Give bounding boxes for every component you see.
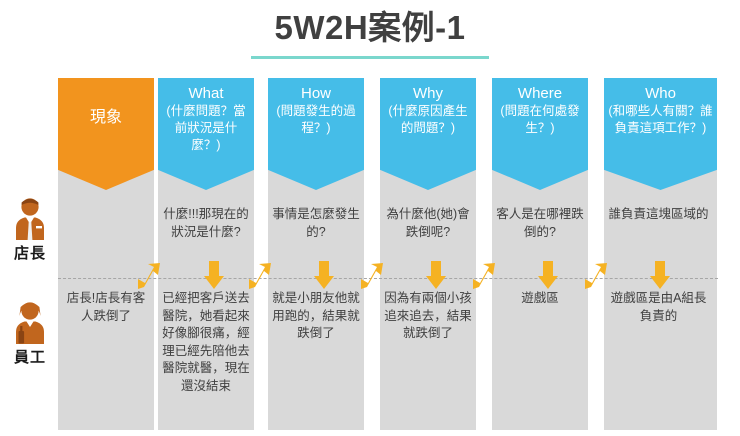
column-header-zh: (問題發生的過程？) (271, 103, 361, 137)
cell-staff-where: 遊戲區 (495, 290, 585, 308)
persona-staff-label: 員工 (4, 348, 56, 368)
cell-manager-who: 誰負責這塊區域的 (607, 206, 710, 224)
cell-staff-how: 就是小朋友他就用跑的，結果就跌倒了 (271, 290, 361, 343)
arrow-down-4 (537, 260, 563, 290)
cell-staff-phenomenon: 店長!店長有客人跌倒了 (61, 290, 151, 325)
cell-manager-how: 事情是怎麼發生的? (271, 206, 361, 241)
arrow-up-4 (471, 262, 497, 292)
column-header-phenomenon: 現象 (58, 78, 154, 190)
column-header-why: Why (什麼原因產生的問題？) (380, 78, 476, 190)
column-where[interactable]: Where (問題在何處發生？) 客人是在哪裡跌倒的? 遊戲區 (492, 78, 588, 430)
column-what[interactable]: What (什麼問題？當前狀況是什麼？) 什麼!!!那現在的狀況是什麼? 已經把… (158, 78, 254, 430)
column-header-label: 現象 (61, 108, 151, 127)
manager-person-icon (4, 196, 56, 242)
page-title: 5W2H案例-1 (0, 8, 740, 48)
persona-manager-label: 店長 (4, 244, 56, 264)
column-header-en: What (161, 84, 251, 103)
column-phenomenon[interactable]: 現象 店長!店長有客人跌倒了 (58, 78, 154, 430)
persona-staff: 員工 (4, 300, 56, 368)
column-header-en: Who (607, 84, 714, 103)
column-header-what: What (什麼問題？當前狀況是什麼？) (158, 78, 254, 190)
column-header-zh: (什麼原因產生的問題？) (383, 103, 473, 137)
staff-person-icon (4, 300, 56, 346)
column-header-who: Who (和哪些人有關？誰負責這項工作？) (604, 78, 717, 190)
cell-manager-why: 為什麼他(她)會跌倒呢? (383, 206, 473, 241)
arrow-down-1 (203, 260, 229, 290)
arrow-up-3 (359, 262, 385, 292)
column-header-zh: (問題在何處發生？) (495, 103, 585, 137)
arrow-down-5 (649, 260, 675, 290)
column-why[interactable]: Why (什麼原因產生的問題？) 為什麼他(她)會跌倒呢? 因為有兩個小孩追來追… (380, 78, 476, 430)
column-header-en: Where (495, 84, 585, 103)
arrow-up-5 (583, 262, 609, 292)
column-header-en: How (271, 84, 361, 103)
cell-manager-what: 什麼!!!那現在的狀況是什麼? (161, 206, 251, 241)
column-how[interactable]: How (問題發生的過程？) 事情是怎麼發生的? 就是小朋友他就用跑的，結果就跌… (268, 78, 364, 430)
cell-staff-who: 遊戲區是由A組長負責的 (607, 290, 710, 325)
arrow-up-1 (136, 262, 162, 292)
title-underline (251, 56, 489, 59)
persona-manager: 店長 (4, 196, 56, 264)
cell-manager-where: 客人是在哪裡跌倒的? (495, 206, 585, 241)
column-header-zh: (和哪些人有關？誰負責這項工作？) (607, 103, 714, 137)
column-header-where: Where (問題在何處發生？) (492, 78, 588, 190)
title-area: 5W2H案例-1 (0, 0, 740, 70)
arrow-down-3 (425, 260, 451, 290)
column-who[interactable]: Who (和哪些人有關？誰負責這項工作？) 誰負責這塊區域的 遊戲區是由A組長負… (604, 78, 717, 430)
column-header-how: How (問題發生的過程？) (268, 78, 364, 190)
arrow-up-2 (247, 262, 273, 292)
cell-staff-why: 因為有兩個小孩追來追去，結果就跌倒了 (383, 290, 473, 343)
column-header-zh: (什麼問題？當前狀況是什麼？) (161, 103, 251, 154)
cell-staff-what: 已經把客戶送去醫院，她看起來好像腳很痛，經理已經先陪他去醫院就醫，現在還沒結束 (161, 290, 251, 395)
column-header-en: Why (383, 84, 473, 103)
arrow-down-2 (313, 260, 339, 290)
